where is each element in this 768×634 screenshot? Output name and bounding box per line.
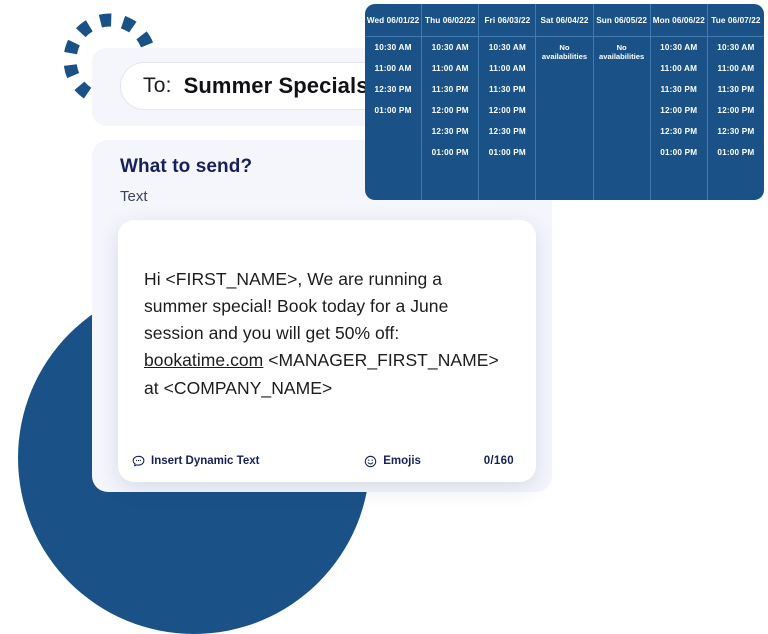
schedule-day-column: Thu 06/02/2210:30 AM11:00 AM11:30 PM12:0… (422, 4, 479, 200)
message-composer-card[interactable]: Hi <FIRST_NAME>, We are running a summer… (118, 220, 536, 482)
time-slot[interactable]: 12:30 PM (708, 121, 764, 142)
insert-dynamic-text-button[interactable]: Insert Dynamic Text (132, 455, 259, 468)
schedule-day-header: Sat 06/04/22 (536, 4, 592, 37)
time-slot[interactable]: 10:30 AM (708, 37, 764, 58)
schedule-day-column: Mon 06/06/2210:30 AM11:00 AM11:30 PM12:0… (651, 4, 708, 200)
section-title: What to send? (120, 156, 252, 178)
emojis-button[interactable]: Emojis (364, 455, 421, 468)
schedule-day-header: Mon 06/06/22 (651, 4, 707, 37)
time-slot[interactable]: 12:00 PM (651, 100, 707, 121)
time-slot[interactable]: 11:30 PM (651, 79, 707, 100)
schedule-day-column: Sat 06/04/22No availabilities (536, 4, 593, 200)
time-slot[interactable]: 10:30 AM (365, 37, 421, 58)
time-slot[interactable]: 10:30 AM (479, 37, 535, 58)
smiley-face-icon (364, 455, 377, 468)
message-text[interactable]: Hi <FIRST_NAME>, We are running a summer… (118, 220, 536, 448)
schedule-day-header: Sun 06/05/22 (594, 4, 650, 37)
time-slot[interactable]: 01:00 PM (422, 142, 478, 163)
recipient-label: To: (143, 74, 172, 98)
time-slot[interactable]: 11:00 AM (422, 58, 478, 79)
time-slot[interactable]: 12:00 PM (708, 100, 764, 121)
schedule-day-header: Fri 06/03/22 (479, 4, 535, 37)
time-slot[interactable]: 10:30 AM (422, 37, 478, 58)
time-slot[interactable]: 01:00 PM (479, 142, 535, 163)
schedule-day-column: Fri 06/03/2210:30 AM11:00 AM11:30 PM12:0… (479, 4, 536, 200)
time-slot[interactable]: 11:00 AM (708, 58, 764, 79)
emojis-label: Emojis (383, 455, 421, 467)
schedule-day-header: Tue 06/07/22 (708, 4, 764, 37)
availability-schedule-panel[interactable]: Wed 06/01/2210:30 AM11:00 AM12:30 PM01:0… (365, 4, 764, 200)
time-slot[interactable]: 11:30 PM (708, 79, 764, 100)
time-slot[interactable]: 11:30 PM (479, 79, 535, 100)
message-text-before-link: Hi <FIRST_NAME>, We are running a summer… (144, 269, 448, 343)
time-slot[interactable]: 01:00 PM (708, 142, 764, 163)
time-slot[interactable]: 12:30 PM (422, 121, 478, 142)
screenshot-stage: To: Summer Specials What to send? Text H… (0, 0, 768, 634)
schedule-day-column: Sun 06/05/22No availabilities (594, 4, 651, 200)
channel-label: Text (120, 188, 148, 205)
no-availability-label: No availabilities (594, 37, 650, 67)
time-slot[interactable]: 12:30 PM (651, 121, 707, 142)
schedule-day-column: Wed 06/01/2210:30 AM11:00 AM12:30 PM01:0… (365, 4, 422, 200)
schedule-day-header: Thu 06/02/22 (422, 4, 478, 37)
recipient-value: Summer Specials (184, 73, 369, 99)
schedule-day-header: Wed 06/01/22 (365, 4, 421, 37)
time-slot[interactable]: 12:00 PM (422, 100, 478, 121)
schedule-day-column: Tue 06/07/2210:30 AM11:00 AM11:30 PM12:0… (708, 4, 764, 200)
composer-toolbar: Insert Dynamic Text Emojis 0/160 (118, 448, 536, 482)
time-slot[interactable]: 12:00 PM (479, 100, 535, 121)
no-availability-label: No availabilities (536, 37, 592, 67)
time-slot[interactable]: 11:00 AM (651, 58, 707, 79)
speech-bubble-icon (132, 455, 145, 468)
time-slot[interactable]: 11:00 AM (365, 58, 421, 79)
time-slot[interactable]: 01:00 PM (651, 142, 707, 163)
character-counter: 0/160 (484, 455, 514, 467)
time-slot[interactable]: 01:00 PM (365, 100, 421, 121)
time-slot[interactable]: 10:30 AM (651, 37, 707, 58)
time-slot[interactable]: 12:30 PM (365, 79, 421, 100)
time-slot[interactable]: 11:00 AM (479, 58, 535, 79)
time-slot[interactable]: 11:30 PM (422, 79, 478, 100)
insert-dynamic-text-label: Insert Dynamic Text (151, 455, 259, 467)
time-slot[interactable]: 12:30 PM (479, 121, 535, 142)
message-link[interactable]: bookatime.com (144, 350, 263, 370)
